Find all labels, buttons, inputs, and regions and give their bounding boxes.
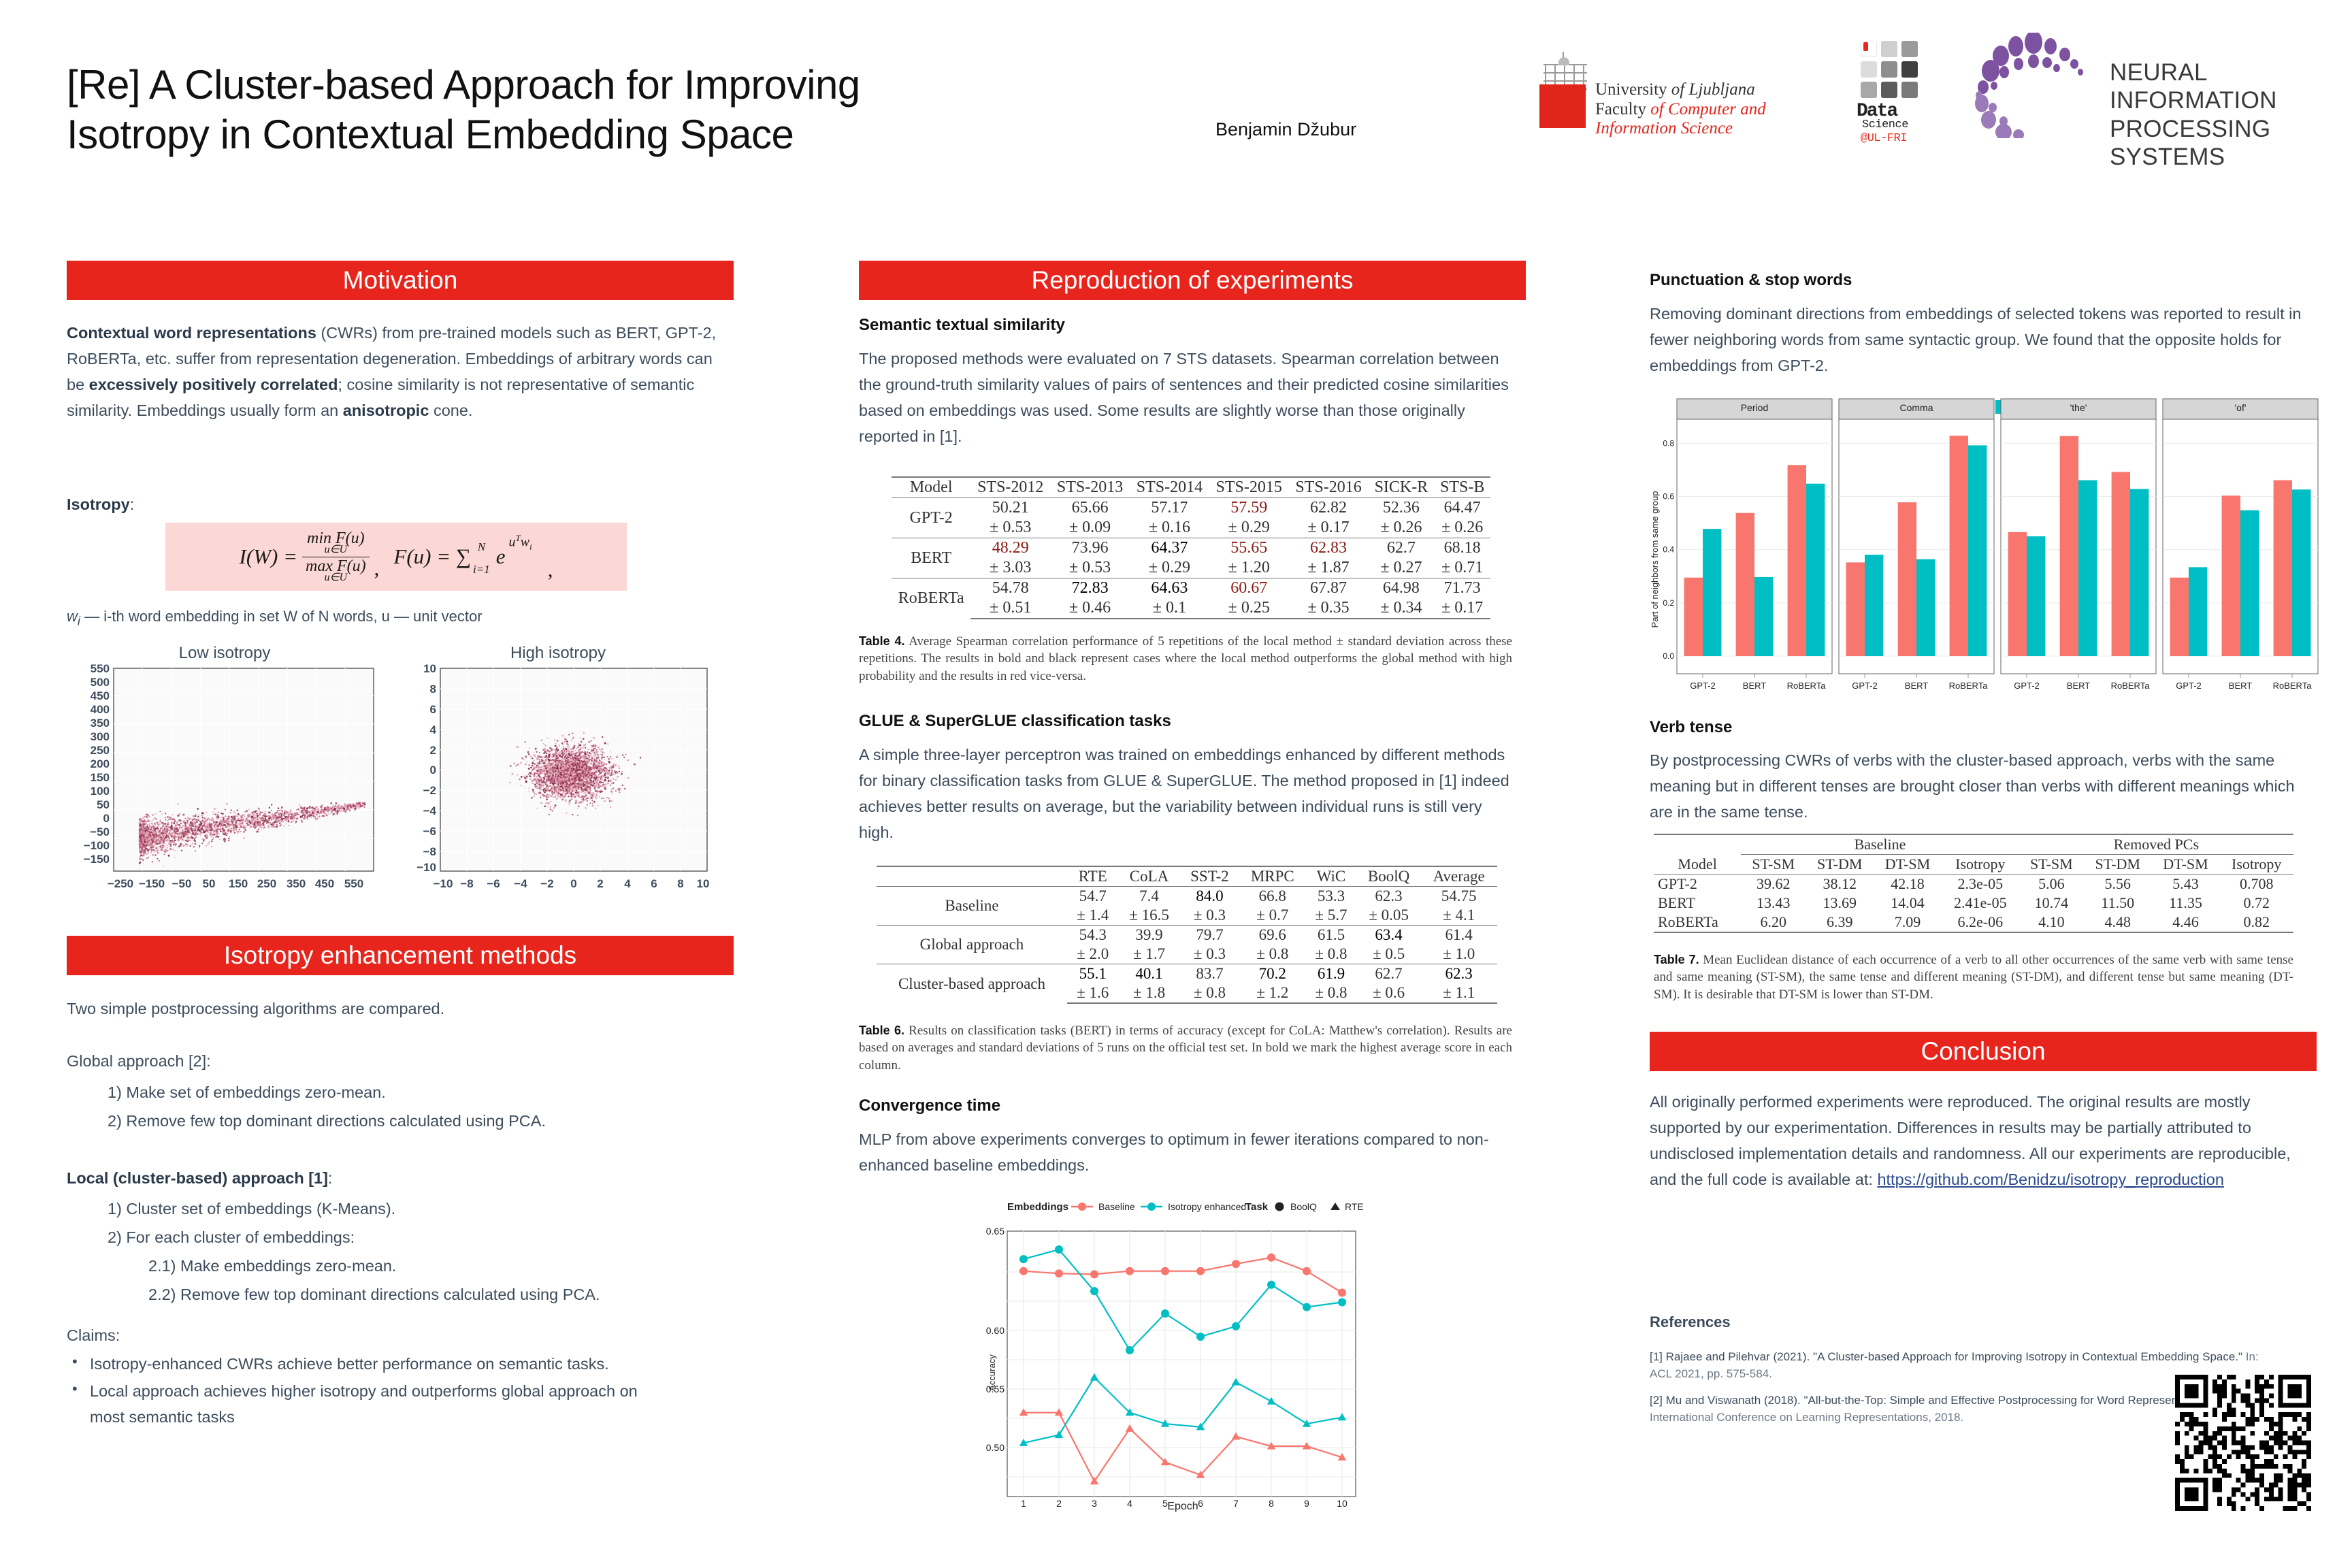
- table-4-error: ± 0.17: [1434, 598, 1490, 619]
- table-4-error: ± 0.26: [1434, 518, 1490, 538]
- table-4-value: 73.96: [1050, 538, 1130, 559]
- low-isotropy-chart-title: Low isotropy: [65, 644, 385, 663]
- table-6-value: 7.4: [1118, 887, 1179, 906]
- table-6-value: 66.8: [1239, 887, 1305, 906]
- table-4-error: ± 0.25: [1209, 598, 1289, 619]
- punctuation-subheading: Punctuation & stop words: [1650, 271, 1852, 290]
- table-7: Baseline Removed PCs Model ST-SM ST-DM D…: [1654, 834, 2293, 933]
- high-isotropy-plot: 1086 420 −2−4−6 −8−10 −10−8−6 −4−20 246 …: [398, 663, 718, 908]
- local-approach-step-1: 1) Cluster set of embeddings (K-Means).: [108, 1196, 720, 1222]
- page-title: [Re] A Cluster-based Approach for Improv…: [67, 60, 1196, 159]
- table-4-error: ± 0.29: [1130, 558, 1209, 578]
- table-row: Global approach 54.3 39.9 79.7 69.6 61.5…: [877, 926, 1497, 945]
- table-7-value: 7.09: [1874, 913, 1942, 932]
- formula-legend: wi — i-th word embedding in set W of N w…: [67, 604, 720, 631]
- table-4-value: 60.67: [1209, 578, 1289, 599]
- svg-text:500: 500: [91, 676, 110, 689]
- table-6-error: ± 0.8: [1305, 945, 1356, 964]
- table-6-caption: Table 6. Results on classification tasks…: [859, 1022, 1512, 1074]
- table-7-value: 11.35: [2152, 894, 2220, 913]
- section-header-motivation: Motivation: [67, 261, 734, 300]
- references-heading: References: [1650, 1313, 1731, 1331]
- svg-text:550: 550: [344, 877, 363, 890]
- svg-text:−150: −150: [84, 853, 110, 866]
- table-4-value: 57.17: [1130, 498, 1209, 519]
- neurips-swirl-icon: [1974, 33, 2103, 138]
- table-6-value: 53.3: [1305, 887, 1356, 906]
- table-4-error: ± 0.46: [1050, 598, 1130, 619]
- table-row: GPT-2 39.62 38.12 42.18 2.3e-05 5.06 5.5…: [1654, 875, 2293, 894]
- table-row: Model ST-SM ST-DM DT-SM Isotropy ST-SM S…: [1654, 855, 2293, 875]
- table-6-error: ± 5.7: [1305, 906, 1356, 926]
- low-isotropy-plot: 550500450 400350300 250200150 100500 −50…: [65, 663, 385, 908]
- svg-text:350: 350: [287, 877, 306, 890]
- table-6-model: Global approach: [877, 926, 1067, 964]
- table-6-col-header: Average: [1420, 866, 1497, 887]
- table-6-value: 63.4: [1357, 926, 1421, 945]
- table-7-group-header: Baseline: [1741, 834, 2019, 855]
- table-7-value: 6.39: [1806, 913, 1874, 932]
- legend-baseline: Baseline: [1098, 1201, 1135, 1212]
- isotropy-label: Isotropy:: [67, 491, 339, 517]
- high-isotropy-chart: High isotropy 1086 420 −2−4−6 −8−10: [398, 644, 718, 909]
- table-6-error: ± 1.6: [1067, 983, 1118, 1003]
- table-6-error: ± 0.8: [1305, 983, 1356, 1003]
- table-row: Baseline 54.7 7.4 84.0 66.8 53.3 62.3 54…: [877, 887, 1497, 906]
- table-7-value: 10.74: [2019, 894, 2084, 913]
- methods-intro: Two simple postprocessing algorithms are…: [67, 996, 720, 1022]
- svg-text:450: 450: [91, 689, 110, 702]
- table-4-error: ± 3.03: [970, 558, 1050, 578]
- qr-code[interactable]: [2175, 1375, 2311, 1511]
- table-7-value: 13.43: [1741, 894, 1806, 913]
- reference-item-2: [2] Mu and Viswanath (2018). "All-but-th…: [1650, 1392, 2262, 1426]
- table-7-value: 38.12: [1806, 875, 1874, 894]
- table-6-col-header: WiC: [1305, 866, 1356, 887]
- low-isotropy-chart: Low isotropy 550500450 400350300 2502001…: [65, 644, 385, 909]
- verbtense-subheading: Verb tense: [1650, 718, 1732, 737]
- table-7-value: 6.20: [1741, 913, 1806, 932]
- qr-code-image: [2175, 1375, 2311, 1511]
- table-4-value: 65.66: [1050, 498, 1130, 519]
- table-6-value: 55.1: [1067, 964, 1118, 984]
- table-4-col-header: STS-B: [1434, 477, 1490, 498]
- table-4-col-header: STS-2014: [1130, 477, 1209, 498]
- table-4-error: ± 0.16: [1130, 518, 1209, 538]
- svg-text:450: 450: [315, 877, 334, 890]
- table-row: RTE CoLA SST-2 MRPC WiC BoolQ Average: [877, 866, 1497, 887]
- table-6-col-header: CoLA: [1118, 866, 1179, 887]
- table-4-value: 62.82: [1289, 498, 1369, 519]
- table-7-col-header: ST-SM: [1741, 855, 1806, 875]
- table-4-error: ± 0.29: [1209, 518, 1289, 538]
- table-7-model: GPT-2: [1654, 875, 1741, 894]
- isotropy-formula-box: I(W) = min F(u) u∈U max F(u) u∈U , F(u) …: [165, 523, 627, 591]
- svg-text:300: 300: [91, 730, 110, 743]
- table-6-col-header: [877, 866, 1067, 887]
- svg-text:400: 400: [91, 703, 110, 716]
- table-6-value: 83.7: [1180, 964, 1240, 984]
- table-7-col-header: ST-DM: [2084, 855, 2152, 875]
- table-6-error: ± 1.7: [1118, 945, 1179, 964]
- svg-text:−50: −50: [172, 877, 192, 890]
- global-approach-step-2: 2) Remove few top dominant directions ca…: [108, 1108, 720, 1134]
- table-7-col-header: Isotropy: [1942, 855, 2019, 875]
- table-6-value: 39.9: [1118, 926, 1179, 945]
- table-4-error: ± 0.34: [1368, 598, 1434, 619]
- table-7-value: 2.3e-05: [1942, 875, 2019, 894]
- table-6-model: Baseline: [877, 887, 1067, 926]
- table-6-value: 61.9: [1305, 964, 1356, 984]
- table-row: Baseline Removed PCs: [1654, 834, 2293, 855]
- university-of-ljubljana-logo: University of Ljubljana Faculty of Compu…: [1537, 41, 1809, 129]
- table-6-value: 62.3: [1357, 887, 1421, 906]
- table-4-value: 62.7: [1368, 538, 1434, 559]
- svg-text:−100: −100: [84, 839, 110, 852]
- table-4-value: 55.65: [1209, 538, 1289, 559]
- table-7-value: 13.69: [1806, 894, 1874, 913]
- table-4-error: ± 0.17: [1289, 518, 1369, 538]
- high-isotropy-chart-title: High isotropy: [398, 644, 718, 663]
- table-4-model: RoBERTa: [892, 578, 970, 619]
- claims-label: Claims:: [67, 1322, 720, 1348]
- punctuation-chart: Embeddings Baseline Isotropy enhanced Pa…: [1650, 389, 2330, 716]
- svg-text:550: 550: [91, 663, 110, 675]
- table-6-error: ± 1.8: [1118, 983, 1179, 1003]
- table-7-model: BERT: [1654, 894, 1741, 913]
- glue-paragraph: A simple three-layer perceptron was trai…: [859, 742, 1512, 845]
- legend-title-task: Task: [1245, 1201, 1269, 1213]
- table-6-col-header: BoolQ: [1357, 866, 1421, 887]
- ul-crest-icon: [1537, 41, 1588, 129]
- convergence-ylabel: Accuracy: [987, 1354, 997, 1391]
- table-row: ± 3.03 ± 0.53 ± 0.29 ± 1.20 ± 1.87 ± 0.2…: [892, 558, 1490, 578]
- table-4-value: 64.98: [1368, 578, 1434, 599]
- table-row: BERT 13.43 13.69 14.04 2.41e-05 10.74 11…: [1654, 894, 2293, 913]
- verbtense-paragraph: By postprocessing CWRs of verbs with the…: [1650, 747, 2303, 825]
- table-7-value: 42.18: [1874, 875, 1942, 894]
- claims-list: Isotropy-enhanced CWRs achieve better pe…: [67, 1351, 666, 1431]
- svg-text:250: 250: [91, 744, 110, 757]
- table-4: Model STS-2012 STS-2013 STS-2014 STS-201…: [892, 476, 1490, 619]
- table-6-error: ± 0.05: [1357, 906, 1421, 926]
- claim-item: Local approach achieves higher isotropy …: [67, 1378, 666, 1430]
- ds-logo-science: Science: [1862, 118, 1908, 131]
- table-6-col-header: SST-2: [1180, 866, 1240, 887]
- table-7-caption: Table 7. Mean Euclidean distance of each…: [1654, 951, 2293, 1003]
- table-6-value: 40.1: [1118, 964, 1179, 984]
- table-7-col-header: ST-SM: [2019, 855, 2084, 875]
- table-6-value: 70.2: [1239, 964, 1305, 984]
- table-row: BERT 48.29 73.96 64.37 55.65 62.83 62.7 …: [892, 538, 1490, 559]
- table-6-error: ± 1.2: [1239, 983, 1305, 1003]
- table-4-model: GPT-2: [892, 498, 970, 538]
- svg-text:150: 150: [91, 771, 110, 784]
- table-6-col-header: RTE: [1067, 866, 1118, 887]
- table-row: ± 0.51 ± 0.46 ± 0.1 ± 0.25 ± 0.35 ± 0.34…: [892, 598, 1490, 619]
- table-7-col-header: DT-SM: [2152, 855, 2220, 875]
- section-header-reproduction: Reproduction of experiments: [859, 261, 1526, 300]
- ds-grid-icon: [1861, 41, 1919, 99]
- convergence-xlabel: Epoch: [1167, 1501, 1198, 1512]
- table-6-error: ± 4.1: [1420, 906, 1497, 926]
- legend-title-embeddings: Embeddings: [1007, 1201, 1068, 1213]
- table-6-error: ± 0.5: [1357, 945, 1421, 964]
- table-4-error: ± 0.27: [1368, 558, 1434, 578]
- table-7-value: 11.50: [2084, 894, 2152, 913]
- table-7-value: 0.72: [2219, 894, 2293, 913]
- title-line-2: Isotropy in Contextual Embedding Space: [67, 112, 794, 157]
- table-4-caption: Table 4. Average Spearman correlation pe…: [859, 633, 1512, 685]
- poster-root: [Re] A Cluster-based Approach for Improv…: [0, 0, 2352, 1568]
- motivation-paragraph: Contextual word representations (CWRs) f…: [67, 320, 720, 423]
- poster-header: [Re] A Cluster-based Approach for Improv…: [0, 0, 2352, 225]
- table-7-value: 0.708: [2219, 875, 2293, 894]
- table-4-value: 64.47: [1434, 498, 1490, 519]
- table-7-value: 14.04: [1874, 894, 1942, 913]
- punctuation-plot: Embeddings Baseline Isotropy enhanced Pa…: [1650, 389, 2330, 716]
- table-7-value: 5.06: [2019, 875, 2084, 894]
- svg-text:350: 350: [91, 717, 110, 730]
- table-6: RTE CoLA SST-2 MRPC WiC BoolQ Average Ba…: [877, 866, 1497, 1004]
- global-approach-heading: Global approach [2]:: [67, 1048, 720, 1074]
- svg-text:200: 200: [91, 757, 110, 770]
- github-link[interactable]: https://github.com/Benidzu/isotropy_repr…: [1877, 1171, 2223, 1188]
- table-6-error: ± 2.0: [1067, 945, 1118, 964]
- table-7-value: 4.48: [2084, 913, 2152, 932]
- table-row: RoBERTa 6.20 6.39 7.09 6.2e-06 4.10 4.48…: [1654, 913, 2293, 932]
- table-4-value: 68.18: [1434, 538, 1490, 559]
- table-6-value: 61.5: [1305, 926, 1356, 945]
- svg-text:−150: −150: [139, 877, 165, 890]
- table-4-value: 67.87: [1289, 578, 1369, 599]
- ds-logo-ulfri: @UL-FRI: [1861, 132, 1907, 145]
- table-7-model: RoBERTa: [1654, 913, 1741, 932]
- table-4-error: ± 1.87: [1289, 558, 1369, 578]
- local-approach-heading: Local (cluster-based) approach [1]:: [67, 1165, 720, 1191]
- table-4-error: ± 1.20: [1209, 558, 1289, 578]
- table-4-error: ± 0.35: [1289, 598, 1369, 619]
- legend-isotropy: Isotropy enhanced: [1168, 1201, 1246, 1212]
- table-4-value: 54.78: [970, 578, 1050, 599]
- conclusion-paragraph: All originally performed experiments wer…: [1650, 1089, 2303, 1192]
- table-4-model: BERT: [892, 538, 970, 578]
- glue-subheading: GLUE & SuperGLUE classification tasks: [859, 712, 1171, 731]
- table-row: Cluster-based approach 55.1 40.1 83.7 70…: [877, 964, 1497, 984]
- svg-text:50: 50: [203, 877, 216, 890]
- table-6-error: ± 1.4: [1067, 906, 1118, 926]
- table-4-error: ± 0.51: [970, 598, 1050, 619]
- reference-item-1: [1] Rajaee and Pilehvar (2021). "A Clust…: [1650, 1349, 2262, 1382]
- table-6-value: 62.7: [1357, 964, 1421, 984]
- table-6-error: ± 16.5: [1118, 906, 1179, 926]
- ul-logo-line-1: University of Ljubljana: [1595, 80, 1799, 100]
- legend-rte: RTE: [1345, 1201, 1364, 1212]
- section-header-methods: Isotropy enhancement methods: [67, 936, 734, 975]
- table-4-value: 64.37: [1130, 538, 1209, 559]
- sts-subheading: Semantic textual similarity: [859, 316, 1065, 335]
- table-4-error: ± 0.71: [1434, 558, 1490, 578]
- table-7-value: 5.43: [2152, 875, 2220, 894]
- table-6-model: Cluster-based approach: [877, 964, 1067, 1004]
- punctuation-ylabel: Part of neighbors from same group: [1650, 491, 1660, 628]
- svg-text:0: 0: [103, 812, 110, 825]
- svg-text:−250: −250: [108, 877, 133, 890]
- table-7-col-header: Model: [1654, 855, 1741, 875]
- table-row: Model STS-2012 STS-2013 STS-2014 STS-201…: [892, 477, 1490, 498]
- local-approach-step-2: 2) For each cluster of embeddings:: [108, 1224, 720, 1250]
- table-6-error: ± 0.3: [1180, 945, 1240, 964]
- table-4-error: ± 0.26: [1368, 518, 1434, 538]
- table-6-error: ± 0.8: [1239, 945, 1305, 964]
- table-7-value: 5.56: [2084, 875, 2152, 894]
- svg-text:50: 50: [97, 798, 110, 811]
- table-6-value: 54.75: [1420, 887, 1497, 906]
- convergence-paragraph: MLP from above experiments converges to …: [859, 1126, 1512, 1178]
- neurips-logo: NEURAL INFORMATION PROCESSING SYSTEMS: [1974, 33, 2327, 138]
- table-4-col-header: STS-2012: [970, 477, 1050, 498]
- table-6-value: 54.7: [1067, 887, 1118, 906]
- table-row: GPT-2 50.21 65.66 57.17 57.59 62.82 52.3…: [892, 498, 1490, 519]
- table-4-col-header: SICK-R: [1368, 477, 1434, 498]
- convergence-plot: Embeddings Baseline Isotropy enhanced Ta…: [985, 1192, 1407, 1512]
- table-4-value: 71.73: [1434, 578, 1490, 599]
- title-line-1: [Re] A Cluster-based Approach for Improv…: [67, 62, 860, 108]
- convergence-chart: Embeddings Baseline Isotropy enhanced Ta…: [985, 1192, 1407, 1512]
- table-7-value: 6.2e-06: [1942, 913, 2019, 932]
- table-6-error: ± 0.8: [1180, 983, 1240, 1003]
- svg-text:−50: −50: [90, 826, 110, 838]
- table-4-error: ± 0.09: [1050, 518, 1130, 538]
- section-header-conclusion: Conclusion: [1650, 1032, 2317, 1071]
- punctuation-paragraph: Removing dominant directions from embedd…: [1650, 301, 2303, 378]
- table-4-col-header: STS-2015: [1209, 477, 1289, 498]
- neurips-logo-text: NEURAL INFORMATION PROCESSING SYSTEMS: [2110, 59, 2327, 171]
- table-6-error: ± 0.3: [1180, 906, 1240, 926]
- table-4-col-header: STS-2016: [1289, 477, 1369, 498]
- table-6-error: ± 0.7: [1239, 906, 1305, 926]
- table-6-col-header: MRPC: [1239, 866, 1305, 887]
- table-7-value: 4.10: [2019, 913, 2084, 932]
- local-approach-step-2-1: 2.1) Make embeddings zero-mean.: [148, 1253, 720, 1279]
- table-7-value: 39.62: [1741, 875, 1806, 894]
- table-4-value: 50.21: [970, 498, 1050, 519]
- convergence-subheading: Convergence time: [859, 1096, 1000, 1115]
- table-4-col-header: STS-2013: [1050, 477, 1130, 498]
- svg-text:150: 150: [229, 877, 248, 890]
- ul-logo-line-2: Faculty of Computer and: [1595, 100, 1799, 120]
- svg-text:250: 250: [257, 877, 276, 890]
- table-row: RoBERTa 54.78 72.83 64.63 60.67 67.87 64…: [892, 578, 1490, 599]
- table-7-group-header: Removed PCs: [2019, 834, 2293, 855]
- table-4-error: ± 0.53: [970, 518, 1050, 538]
- table-7-value: 2.41e-05: [1942, 894, 2019, 913]
- table-6-value: 62.3: [1420, 964, 1497, 984]
- table-7-col-header: DT-SM: [1874, 855, 1942, 875]
- isotropy-formula: I(W) = min F(u) u∈U max F(u) u∈U , F(u) …: [240, 530, 553, 584]
- table-7-col-header: Isotropy: [2219, 855, 2293, 875]
- table-4-value: 64.63: [1130, 578, 1209, 599]
- table-7-value: 0.82: [2219, 913, 2293, 932]
- svg-text:100: 100: [91, 785, 110, 798]
- table-4-col-header: Model: [892, 477, 970, 498]
- table-4-value: 48.29: [970, 538, 1050, 559]
- table-6-value: 54.3: [1067, 926, 1118, 945]
- table-4-value: 72.83: [1050, 578, 1130, 599]
- claim-item: Isotropy-enhanced CWRs achieve better pe…: [67, 1351, 666, 1377]
- table-4-error: ± 0.53: [1050, 558, 1130, 578]
- table-7-col-header: ST-DM: [1806, 855, 1874, 875]
- table-4-error: ± 0.1: [1130, 598, 1209, 619]
- table-7-value: 4.46: [2152, 913, 2220, 932]
- legend-boolq: BoolQ: [1290, 1201, 1317, 1212]
- table-6-value: 61.4: [1420, 926, 1497, 945]
- ul-logo-line-3: Information Science: [1595, 119, 1799, 139]
- data-science-logo: Data Science @UL-FRI: [1851, 41, 1933, 136]
- table-row: ± 0.53 ± 0.09 ± 0.16 ± 0.29 ± 0.17 ± 0.2…: [892, 518, 1490, 538]
- table-4-value: 52.36: [1368, 498, 1434, 519]
- local-approach-step-2-2: 2.2) Remove few top dominant directions …: [148, 1281, 720, 1307]
- global-approach-step-1: 1) Make set of embeddings zero-mean.: [108, 1079, 720, 1105]
- table-4-value: 62.83: [1289, 538, 1369, 559]
- table-6-value: 79.7: [1180, 926, 1240, 945]
- table-6-value: 69.6: [1239, 926, 1305, 945]
- table-6-error: ± 0.6: [1357, 983, 1421, 1003]
- table-6-value: 84.0: [1180, 887, 1240, 906]
- table-6-error: ± 1.1: [1420, 983, 1497, 1003]
- author-name: Benjamin Džubur: [1215, 119, 1356, 140]
- table-4-value: 57.59: [1209, 498, 1289, 519]
- table-6-error: ± 1.0: [1420, 945, 1497, 964]
- sts-paragraph: The proposed methods were evaluated on 7…: [859, 346, 1512, 449]
